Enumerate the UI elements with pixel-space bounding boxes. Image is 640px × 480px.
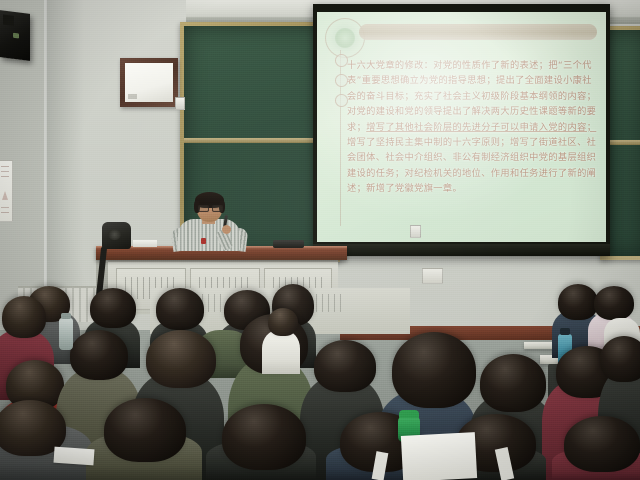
audience-member-head [392, 332, 476, 408]
bottle-cap [560, 328, 570, 335]
poster-line [1, 176, 9, 177]
slide-title-bar [359, 24, 597, 40]
desk-papers [133, 240, 157, 247]
bottle-cap [61, 313, 71, 319]
wall-speaker-icon [0, 10, 30, 61]
audience-member-head [268, 308, 298, 336]
notebook-paper [401, 432, 477, 480]
audience-member-head [2, 296, 46, 338]
bottle-cap [399, 410, 419, 418]
lecturer-hand [222, 225, 231, 234]
slide-text-part-3: 增写了坚持民主集中制的十六字原则；增写了街道社区、社会团体、社会中介组织、非公有… [347, 137, 596, 194]
light-switch[interactable] [175, 97, 185, 110]
audience-member-head [222, 404, 306, 470]
audience-member-head [70, 330, 128, 380]
audience-member-body [262, 330, 300, 374]
poster-line [1, 171, 9, 172]
water-bottle-clear [59, 318, 73, 350]
speaker-led-indicator [13, 33, 19, 39]
wall-poster [0, 160, 13, 222]
slide-sunburst-logo-icon [325, 18, 365, 58]
poster-triangle-icon [2, 191, 8, 200]
projected-slide: 十六大党章的修改：对党的性质作了新的表述；把“三个代表”重要思想确立为党的指导思… [317, 12, 606, 242]
audience-member-head [564, 416, 640, 472]
audience-member-head [104, 398, 186, 462]
audience-member-head [90, 288, 136, 328]
projection-screen: 十六大党章的修改：对党的性质作了新的表述；把“三个代表”重要思想确立为党的指导思… [313, 4, 610, 256]
notebook-paper [53, 447, 94, 466]
lecture-hall-photo: 十六大党章的修改：对党的性质作了新的表述；把“三个代表”重要思想确立为党的指导思… [0, 0, 640, 480]
framed-picture-canvas [125, 63, 173, 102]
audience-member-head [594, 286, 634, 320]
wall-corner-highlight [44, 0, 47, 330]
framed-picture-mark [128, 94, 137, 99]
desk-device [273, 240, 304, 248]
audience-member-head [600, 336, 640, 382]
wall-junction-plate [422, 268, 443, 284]
poster-line [1, 212, 9, 213]
audience-member-head [146, 330, 216, 388]
camera-bag [102, 222, 131, 249]
speaker-mount-bracket [3, 15, 14, 26]
audience-member-head [558, 284, 598, 320]
audience-member-head [480, 354, 546, 412]
audience-member-head [314, 340, 376, 392]
framed-picture [120, 58, 178, 107]
lecturer-badge [201, 238, 206, 244]
poster-line [1, 166, 9, 167]
glasses-icon [198, 205, 221, 210]
audience-member-head [156, 288, 204, 330]
screen-bottom-bar [313, 244, 610, 256]
wall-corner-shadow [46, 0, 84, 330]
poster-line [1, 207, 9, 208]
wall-outlet[interactable] [410, 225, 421, 238]
slide-body-text: 十六大党章的修改：对党的性质作了新的表述；把“三个代表”重要思想确立为党的指导思… [347, 58, 597, 197]
slide-text-underlined: 增写了其他社会阶层的先进分子可以申请入党的内容； [366, 122, 596, 133]
